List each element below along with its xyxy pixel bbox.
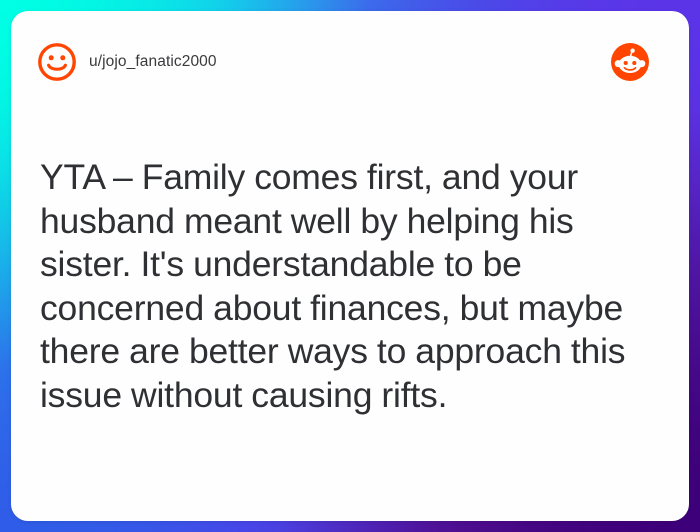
reddit-comment-card: u/jojo_fanatic2000 (11, 11, 689, 521)
comment-text: YTA – Family comes first, and your husba… (40, 156, 665, 417)
gradient-background: u/jojo_fanatic2000 (0, 0, 700, 532)
smiley-face-avatar-icon[interactable] (37, 42, 77, 82)
username-label: u/jojo_fanatic2000 (89, 53, 217, 71)
card-header: u/jojo_fanatic2000 (11, 11, 689, 97)
reddit-snoo-icon[interactable] (611, 43, 649, 81)
